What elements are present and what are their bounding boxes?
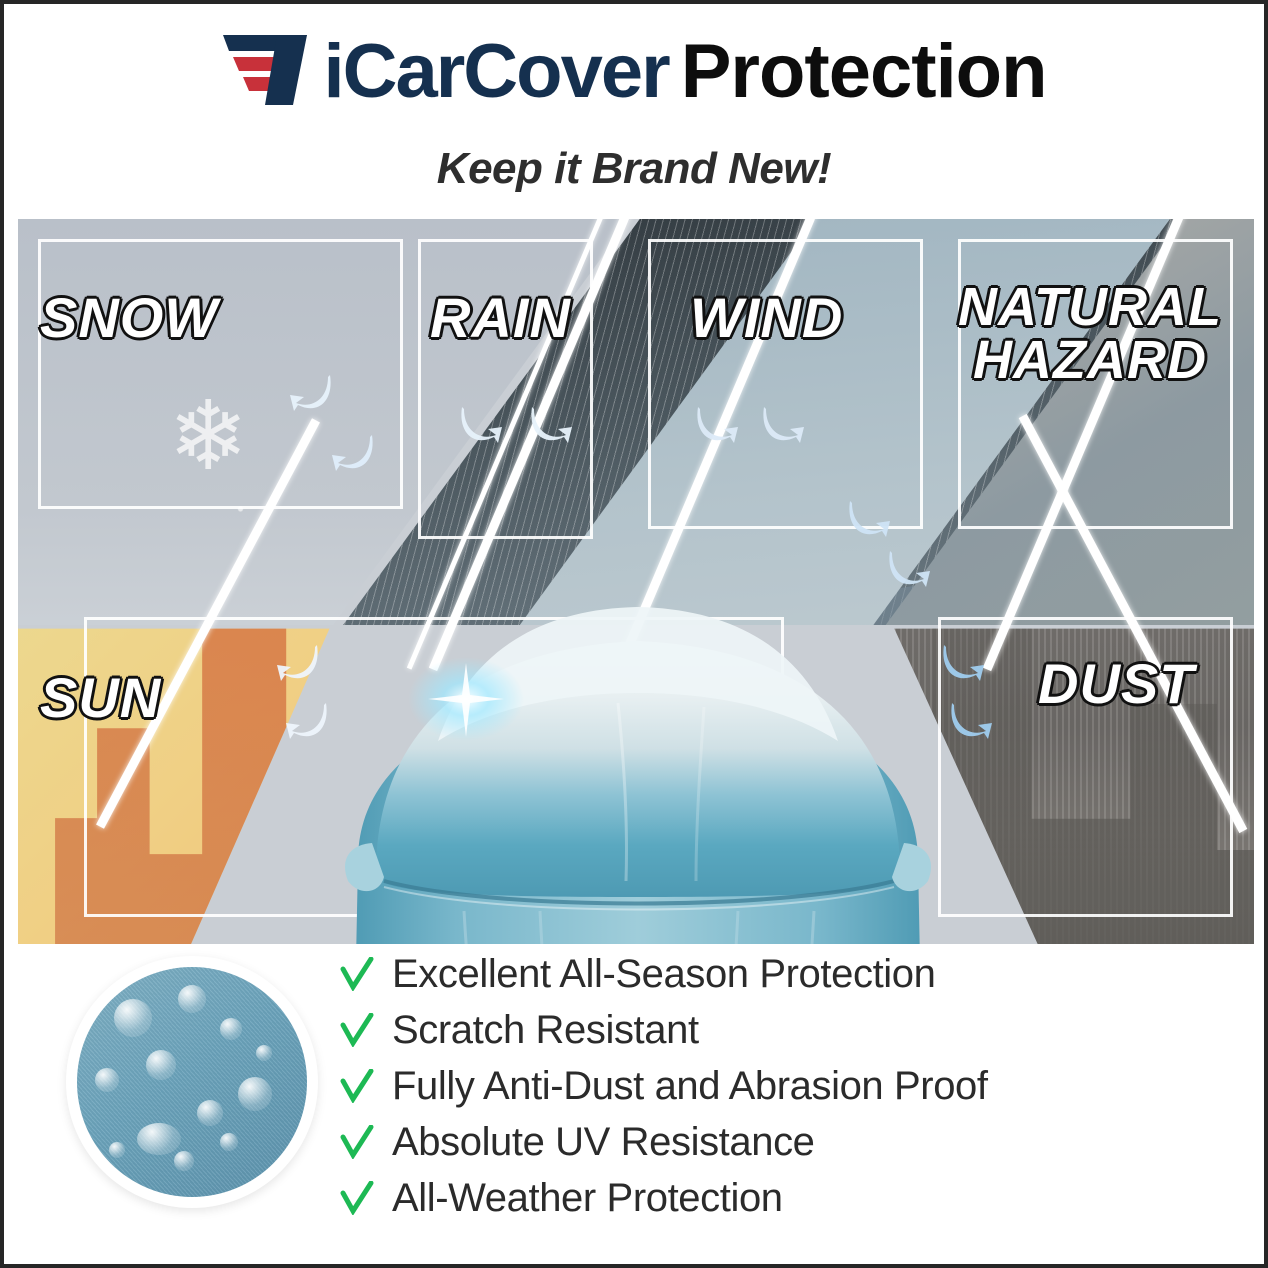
panel-label-rain: RAIN [430, 291, 571, 346]
header: iCarCover Protection Keep it Brand New! [4, 4, 1264, 214]
water-beading-fabric-swatch-icon [66, 956, 318, 1208]
panel-label-snow: SNOW [40, 291, 218, 346]
water-drop [174, 1151, 194, 1171]
water-drop [178, 985, 206, 1013]
feature-item: Scratch Resistant [340, 1002, 1220, 1058]
feature-label: All-Weather Protection [392, 1176, 783, 1221]
water-drop [220, 1133, 238, 1151]
water-drop [220, 1018, 242, 1040]
ad-card: iCarCover Protection Keep it Brand New! … [0, 0, 1268, 1268]
feature-item: All-Weather Protection [340, 1170, 1220, 1226]
feature-list: Excellent All-Season Protection Scratch … [340, 946, 1220, 1226]
feature-label: Absolute UV Resistance [392, 1120, 815, 1165]
water-drop [137, 1123, 181, 1155]
feature-item: Absolute UV Resistance [340, 1114, 1220, 1170]
water-drop [197, 1100, 223, 1126]
panel-label-wind: WIND [690, 291, 843, 346]
feature-label: Fully Anti-Dust and Abrasion Proof [392, 1064, 988, 1109]
feature-item: Excellent All-Season Protection [340, 946, 1220, 1002]
water-drop [238, 1077, 272, 1111]
water-drop [95, 1068, 119, 1092]
panel-label-dust: DUST [1038, 657, 1194, 712]
covered-car-icon [318, 441, 958, 944]
benefits-collage: ❄ [18, 219, 1254, 944]
check-icon [340, 1181, 374, 1215]
tagline: Keep it Brand New! [4, 144, 1264, 194]
feature-label: Excellent All-Season Protection [392, 952, 935, 997]
snowflake-icon: ❄ [168, 389, 248, 485]
brand-row: iCarCover Protection [4, 32, 1264, 108]
brand-suffix: Protection [681, 34, 1047, 110]
water-drop [114, 999, 152, 1037]
feature-label: Scratch Resistant [392, 1008, 699, 1053]
check-icon [340, 1069, 374, 1103]
deflection-arrow-icon [273, 639, 321, 687]
deflection-arrow-icon [286, 369, 334, 417]
water-drop [109, 1142, 125, 1158]
panel-label-sun: SUN [40, 671, 161, 726]
water-drop [146, 1050, 176, 1080]
water-drop [256, 1045, 272, 1061]
feature-item: Fully Anti-Dust and Abrasion Proof [340, 1058, 1220, 1114]
brand-name: iCarCover [323, 34, 668, 110]
check-icon [340, 1013, 374, 1047]
swatch-photo [77, 967, 307, 1197]
icarcover-flag-logo-icon [221, 33, 313, 107]
panel-label-natural-hazard: NATURAL HAZARD [958, 281, 1222, 387]
check-icon [340, 957, 374, 991]
check-icon [340, 1125, 374, 1159]
